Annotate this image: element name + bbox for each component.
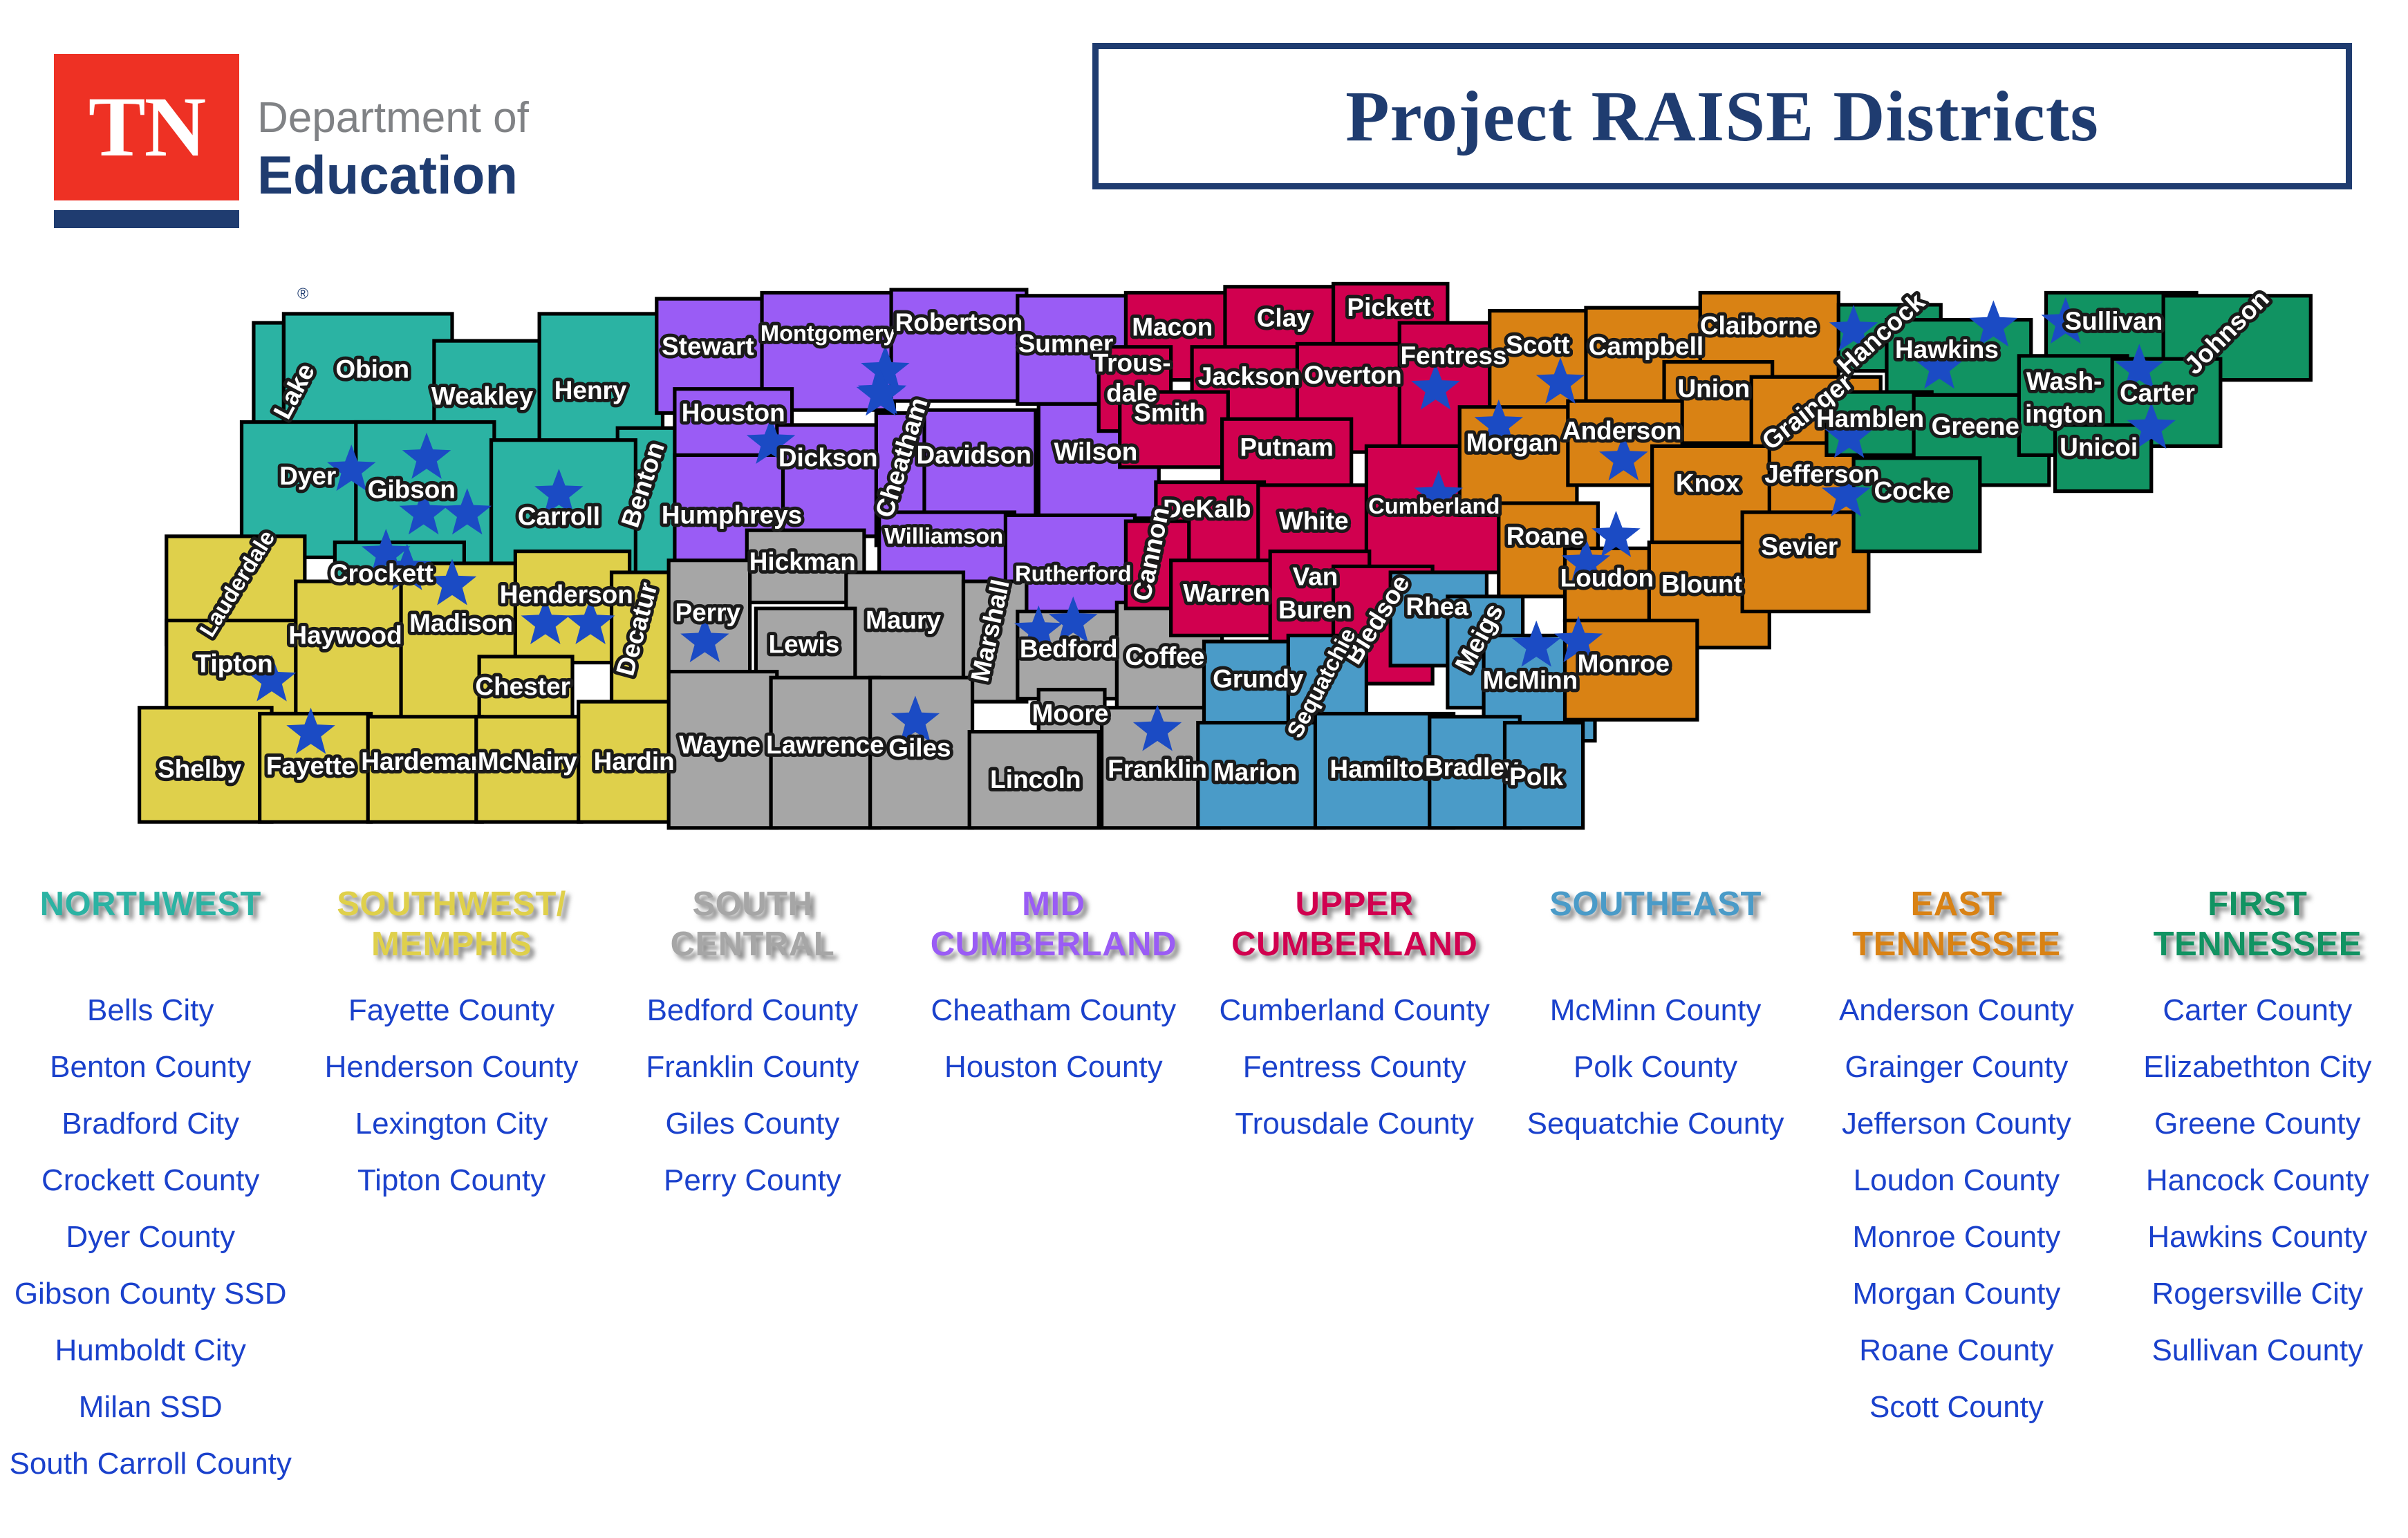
- county-shape: [891, 290, 1027, 401]
- county-label: Marion: [1213, 758, 1297, 786]
- tennessee-region-map: LakeObionWeakleyHenryBentonDyerGibsonCar…: [0, 263, 2408, 864]
- column-heading-mid-cumberland: MIDCUMBERLAND: [931, 885, 1177, 965]
- county-label: Giles: [888, 733, 951, 762]
- county-label: Hardeman: [361, 747, 486, 776]
- county-label: Monroe: [1578, 650, 1670, 678]
- district-list-item[interactable]: Henderson County: [325, 1052, 579, 1082]
- county-label: Williamson: [884, 523, 1003, 549]
- page-title-box: Project RAISE Districts: [1092, 43, 2352, 189]
- county-label: Union: [1677, 375, 1750, 403]
- county-label: Wayne: [679, 731, 760, 759]
- county-shape: [296, 581, 407, 720]
- district-list-item[interactable]: Bradford City: [62, 1109, 239, 1139]
- district-list-item[interactable]: Houston County: [944, 1052, 1163, 1082]
- column-heading-line: FIRST: [2154, 885, 2362, 925]
- district-list-item[interactable]: Fayette County: [348, 995, 554, 1026]
- district-columns: NORTHWESTBells CityBenton CountyBradford…: [0, 885, 2408, 1528]
- column-heading-line: EAST: [1852, 885, 2060, 925]
- logo-wordmark: Department of Education: [257, 54, 529, 202]
- column-heading-line: SOUTHEAST: [1549, 885, 1762, 925]
- county-label: Rhea: [1406, 592, 1468, 621]
- logo-department-text: Department of: [257, 97, 529, 140]
- county-label: Jackson: [1198, 362, 1300, 391]
- district-list-item[interactable]: Sequatchie County: [1527, 1109, 1784, 1139]
- county-label: Obion: [335, 355, 409, 383]
- county-label: Morgan: [1466, 429, 1559, 457]
- district-column-mid-cumberland: MIDCUMBERLANDCheatham CountyHouston Coun…: [903, 885, 1204, 1528]
- county-label: Hamilton: [1329, 755, 1439, 783]
- county-label: Wilson: [1054, 438, 1137, 466]
- district-list-item[interactable]: Polk County: [1574, 1052, 1737, 1082]
- district-list-item[interactable]: Elizabethton City: [2143, 1052, 2371, 1082]
- district-list-item[interactable]: Giles County: [665, 1109, 839, 1139]
- county-label: Carter: [2120, 379, 2195, 407]
- district-list-upper-cumberland: Cumberland CountyFentress CountyTrousdal…: [1204, 995, 1505, 1165]
- district-column-southwest-memphis: SOUTHWEST/MEMPHISFayette CountyHenderson…: [301, 885, 601, 1528]
- county-label: Moore: [1032, 699, 1108, 727]
- county-label: Greene: [1932, 412, 2019, 440]
- county-label: Putnam: [1240, 433, 1334, 461]
- logo-mark: TN: [54, 54, 239, 228]
- county-label: Hawkins: [1895, 335, 1999, 364]
- county-label: Dickson: [778, 444, 878, 472]
- county-label: Shelby: [158, 755, 242, 783]
- column-heading-east-tennessee: EASTTENNESSEE: [1852, 885, 2060, 965]
- county-label: DeKalb: [1163, 495, 1251, 523]
- district-list-item[interactable]: South Carroll County: [9, 1449, 291, 1479]
- county-label: Campbell: [1589, 332, 1704, 361]
- county-label: Van: [1293, 563, 1338, 591]
- county-label: Anderson: [1562, 417, 1682, 445]
- county-label: McNairy: [478, 747, 577, 776]
- county-label: Stewart: [662, 332, 754, 361]
- tn-abbrev-text: TN: [88, 84, 205, 170]
- county-label: Roane: [1506, 522, 1585, 550]
- district-list-item[interactable]: Benton County: [50, 1052, 251, 1082]
- county-label: Scott: [1506, 331, 1569, 359]
- district-list-item[interactable]: Bells City: [87, 995, 214, 1026]
- column-heading-line: MEMPHIS: [337, 925, 566, 965]
- county-label: Humphreys: [662, 500, 802, 529]
- column-heading-line: TENNESSEE: [2154, 925, 2362, 965]
- district-list-item[interactable]: Sullivan County: [2152, 1335, 2363, 1366]
- column-heading-south-central: SOUTHCENTRAL: [671, 885, 835, 965]
- county-label: Grundy: [1213, 664, 1304, 693]
- district-list-item[interactable]: Carter County: [2163, 995, 2352, 1026]
- county-label: Hamblen: [1816, 404, 1924, 433]
- district-list-southwest-memphis: Fayette CountyHenderson CountyLexington …: [301, 995, 601, 1222]
- county-shape: [1742, 512, 1869, 612]
- logo-navy-bar: [54, 210, 239, 228]
- district-list-item[interactable]: Fentress County: [1243, 1052, 1466, 1082]
- district-list-item[interactable]: Perry County: [664, 1165, 841, 1196]
- district-list-item[interactable]: Gibson County SSD: [15, 1279, 287, 1309]
- district-list-item[interactable]: Cumberland County: [1220, 995, 1490, 1026]
- county-label: Macon: [1132, 312, 1213, 341]
- column-heading-line: UPPER: [1231, 885, 1477, 925]
- district-list-item[interactable]: Grainger County: [1845, 1052, 2069, 1082]
- column-heading-line: MID: [931, 885, 1177, 925]
- district-list-item[interactable]: Tipton County: [357, 1165, 545, 1196]
- tn-dept-education-logo: TN Department of Education ®: [54, 54, 529, 228]
- district-column-south-central: SOUTHCENTRALBedford CountyFranklin Count…: [602, 885, 903, 1528]
- county-label: Blount: [1661, 570, 1742, 598]
- county-label: Henry: [554, 376, 627, 404]
- county-label: Sevier: [1761, 532, 1838, 561]
- county-label: Lincoln: [990, 765, 1081, 794]
- county-label: Maury: [866, 606, 941, 635]
- district-list-item[interactable]: Dyer County: [66, 1222, 235, 1253]
- county-label: Sullivan: [2064, 307, 2163, 335]
- district-list-item[interactable]: Cheatham County: [931, 995, 1176, 1026]
- district-list-first-tennessee: Carter CountyElizabethton CityGreene Cou…: [2107, 995, 2408, 1392]
- county-label: Overton: [1304, 361, 1402, 389]
- county-label: Buren: [1278, 595, 1352, 623]
- county-label: Claiborne: [1700, 311, 1818, 339]
- district-list-item[interactable]: Rogersville City: [2152, 1279, 2363, 1309]
- logo-education-text: Education: [257, 148, 529, 202]
- map-svg: LakeObionWeakleyHenryBentonDyerGibsonCar…: [0, 263, 2408, 864]
- county-label: Knox: [1676, 469, 1740, 498]
- county-label: Clay: [1257, 303, 1312, 332]
- district-list-item[interactable]: Anderson County: [1839, 995, 2074, 1026]
- district-list-south-central: Bedford CountyFranklin CountyGiles Count…: [602, 995, 903, 1222]
- county-label: Franklin: [1108, 755, 1207, 783]
- county-label: McMinn: [1483, 666, 1578, 695]
- district-column-northwest: NORTHWESTBells CityBenton CountyBradford…: [0, 885, 301, 1528]
- county-label: Lawrence: [766, 731, 884, 759]
- column-heading-southwest-memphis: SOUTHWEST/MEMPHIS: [337, 885, 566, 965]
- county-label: Carroll: [518, 503, 600, 531]
- county-label: Unicoi: [2060, 433, 2138, 461]
- district-list-item[interactable]: Hancock County: [2146, 1165, 2369, 1196]
- column-heading-line: CENTRAL: [671, 925, 835, 965]
- district-list-item[interactable]: McMinn County: [1550, 995, 1762, 1026]
- district-column-southeast: SOUTHEASTMcMinn CountyPolk CountySequatc…: [1505, 885, 1806, 1528]
- county-label: Davidson: [917, 440, 1032, 469]
- county-label: Montgomery: [760, 320, 896, 346]
- county-label: Crockett: [330, 559, 433, 588]
- county-label: Weakley: [431, 382, 534, 411]
- district-list-item[interactable]: Franklin County: [646, 1052, 859, 1082]
- county-label: Fentress: [1400, 341, 1506, 370]
- district-list-item[interactable]: Milan SSD: [79, 1392, 223, 1423]
- county-label: Jefferson: [1764, 460, 1879, 489]
- county-label: Coffee: [1125, 642, 1204, 670]
- district-list-item[interactable]: Lexington City: [355, 1109, 548, 1139]
- district-list-southeast: McMinn CountyPolk CountySequatchie Count…: [1505, 995, 1806, 1165]
- district-list-item[interactable]: Humboldt City: [55, 1335, 246, 1366]
- district-list-item[interactable]: Trousdale County: [1235, 1109, 1474, 1139]
- column-heading-northwest: NORTHWEST: [40, 885, 261, 925]
- column-heading-line: CUMBERLAND: [931, 925, 1177, 965]
- district-list-item[interactable]: Scott County: [1869, 1392, 2044, 1423]
- column-heading-line: SOUTHWEST/: [337, 885, 566, 925]
- county-label: Fayette: [266, 752, 355, 780]
- county-label: Warren: [1183, 579, 1270, 607]
- county-label: Trous-: [1093, 349, 1171, 377]
- district-list-item[interactable]: Morgan County: [1853, 1279, 2061, 1309]
- column-heading-upper-cumberland: UPPERCUMBERLAND: [1231, 885, 1477, 965]
- district-list-east-tennessee: Anderson CountyGrainger CountyJefferson …: [1806, 995, 2107, 1449]
- tn-state-block: TN: [54, 54, 239, 200]
- district-list-item[interactable]: Roane County: [1859, 1335, 2053, 1366]
- county-label: Robertson: [895, 308, 1023, 337]
- county-label: Tipton: [196, 650, 273, 678]
- district-list-item[interactable]: Greene County: [2154, 1109, 2360, 1139]
- county-label: Chester: [475, 672, 570, 700]
- district-list-item[interactable]: Crockett County: [41, 1165, 259, 1196]
- column-heading-first-tennessee: FIRSTTENNESSEE: [2154, 885, 2362, 965]
- county-label: Hickman: [749, 547, 856, 576]
- county-label: Perry: [675, 599, 740, 627]
- county-label: Wash-: [2026, 367, 2102, 395]
- column-heading-line: CUMBERLAND: [1231, 925, 1477, 965]
- county-label: Cocke: [1874, 477, 1950, 505]
- district-column-first-tennessee: FIRSTTENNESSEECarter CountyElizabethton …: [2107, 885, 2408, 1528]
- district-column-east-tennessee: EASTTENNESSEEAnderson CountyGrainger Cou…: [1806, 885, 2107, 1528]
- county-label: Bradley: [1425, 753, 1519, 782]
- county-label: Gibson: [368, 475, 456, 503]
- county-label: Cumberland: [1368, 493, 1500, 518]
- column-heading-line: TENNESSEE: [1852, 925, 2060, 965]
- county-label: Lewis: [769, 630, 840, 658]
- county-label: Polk: [1509, 762, 1564, 791]
- district-list-item[interactable]: Hawkins County: [2147, 1222, 2367, 1253]
- county-label: Rutherford: [1015, 561, 1131, 586]
- district-list-item[interactable]: Jefferson County: [1842, 1109, 2071, 1139]
- county-label: Dyer: [279, 462, 336, 490]
- column-heading-southeast: SOUTHEAST: [1549, 885, 1762, 925]
- district-list-item[interactable]: Loudon County: [1854, 1165, 2060, 1196]
- page-title: Project RAISE Districts: [1345, 75, 2099, 158]
- county-label: Hardin: [594, 747, 675, 776]
- county-label: Henderson: [500, 581, 633, 609]
- county-label: Pickett: [1347, 293, 1430, 321]
- column-heading-line: NORTHWEST: [40, 885, 261, 925]
- county-label: ington: [2025, 400, 2103, 429]
- county-label: White: [1279, 507, 1349, 535]
- county-label: Bedford: [1020, 635, 1118, 663]
- district-list-item[interactable]: Monroe County: [1853, 1222, 2061, 1253]
- column-heading-line: SOUTH: [671, 885, 835, 925]
- county-label: Houston: [682, 398, 785, 426]
- county-label: Madison: [409, 609, 513, 637]
- district-list-northwest: Bells CityBenton CountyBradford CityCroc…: [0, 995, 301, 1506]
- district-list-item[interactable]: Bedford County: [647, 995, 859, 1026]
- district-list-mid-cumberland: Cheatham CountyHouston County: [903, 995, 1204, 1109]
- county-label: Loudon: [1560, 564, 1654, 592]
- county-label: Smith: [1134, 398, 1205, 426]
- district-column-upper-cumberland: UPPERCUMBERLANDCumberland CountyFentress…: [1204, 885, 1505, 1528]
- county-label: Haywood: [288, 621, 402, 649]
